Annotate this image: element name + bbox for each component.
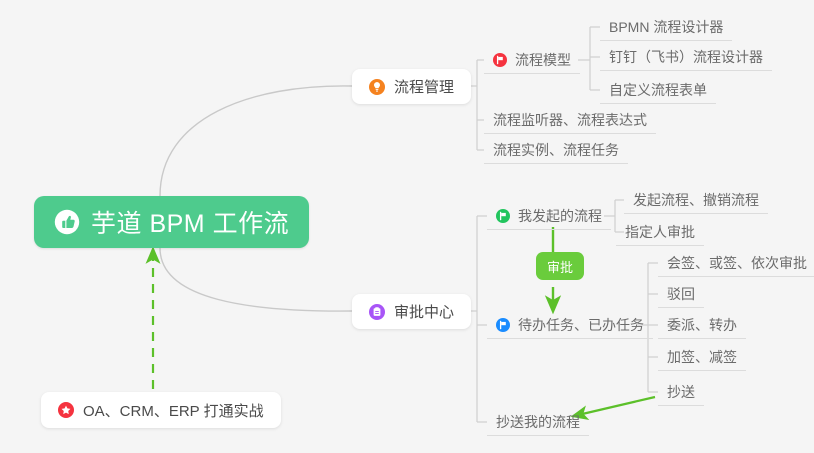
node-label: 流程模型: [515, 50, 571, 70]
star-icon: [58, 402, 74, 418]
clipboard-icon: [369, 304, 385, 320]
flag-icon: [496, 209, 510, 223]
node-label: 抄送: [667, 382, 695, 402]
node-label: 流程监听器、流程表达式: [493, 110, 647, 130]
node-dingtalk-feishu-designer[interactable]: 钉钉（飞书）流程设计器: [600, 43, 772, 71]
root-node[interactable]: 芋道 BPM 工作流: [34, 196, 309, 248]
node-label: OA、CRM、ERP 打通实战: [83, 400, 264, 421]
node-label: 指定人审批: [625, 222, 695, 242]
node-reject[interactable]: 驳回: [658, 280, 704, 308]
node-assignee-approval[interactable]: 指定人审批: [616, 218, 704, 246]
node-label: 我发起的流程: [518, 206, 602, 226]
badge-label: 审批: [547, 257, 573, 276]
lightbulb-icon: [369, 79, 385, 95]
node-cc[interactable]: 抄送: [658, 378, 704, 406]
node-label: 加签、减签: [667, 347, 737, 367]
node-instance-task[interactable]: 流程实例、流程任务: [484, 136, 628, 164]
node-multi-sign[interactable]: 会签、或签、依次审批: [658, 249, 814, 277]
cc-arrow: [578, 397, 655, 415]
flag-icon: [496, 318, 510, 332]
node-bpmn-designer[interactable]: BPMN 流程设计器: [600, 13, 732, 41]
thumbs-up-icon: [54, 209, 80, 235]
mindmap-canvas: 芋道 BPM 工作流 流程管理 流程模型 BPMN 流程设计器 钉钉（飞书）流程: [0, 0, 814, 453]
flag-icon: [493, 53, 507, 67]
node-label: 自定义流程表单: [609, 80, 707, 100]
node-label: 驳回: [667, 284, 695, 304]
node-todo-done-task[interactable]: 待办任务、已办任务: [487, 311, 653, 339]
node-listener-expression[interactable]: 流程监听器、流程表达式: [484, 106, 656, 134]
node-label: 会签、或签、依次审批: [667, 253, 807, 273]
node-start-cancel-process[interactable]: 发起流程、撤销流程: [624, 186, 768, 214]
node-label: 审批中心: [394, 301, 454, 322]
node-label: 委派、转办: [667, 315, 737, 335]
node-delegate-transfer[interactable]: 委派、转办: [658, 311, 746, 339]
node-label: 流程实例、流程任务: [493, 140, 619, 160]
node-add-remove-sign[interactable]: 加签、减签: [658, 343, 746, 371]
node-approval-center[interactable]: 审批中心: [352, 294, 471, 329]
edge-root-to-approval-center: [160, 248, 352, 311]
node-label: 钉钉（飞书）流程设计器: [609, 47, 763, 67]
node-label: 待办任务、已办任务: [518, 315, 644, 335]
approval-badge[interactable]: 审批: [536, 252, 584, 280]
node-label: 抄送我的流程: [496, 412, 580, 432]
node-label: 发起流程、撤销流程: [633, 190, 759, 210]
node-cc-my-process[interactable]: 抄送我的流程: [487, 408, 589, 436]
node-custom-process-form[interactable]: 自定义流程表单: [600, 76, 716, 104]
node-my-started-process[interactable]: 我发起的流程: [487, 202, 611, 230]
root-label: 芋道 BPM 工作流: [91, 204, 289, 240]
edge-root-to-process-management: [160, 86, 352, 196]
node-integration-note[interactable]: OA、CRM、ERP 打通实战: [41, 392, 281, 428]
node-process-model[interactable]: 流程模型: [484, 46, 580, 74]
node-process-management[interactable]: 流程管理: [352, 69, 471, 104]
node-label: BPMN 流程设计器: [609, 17, 723, 37]
node-label: 流程管理: [394, 76, 454, 97]
